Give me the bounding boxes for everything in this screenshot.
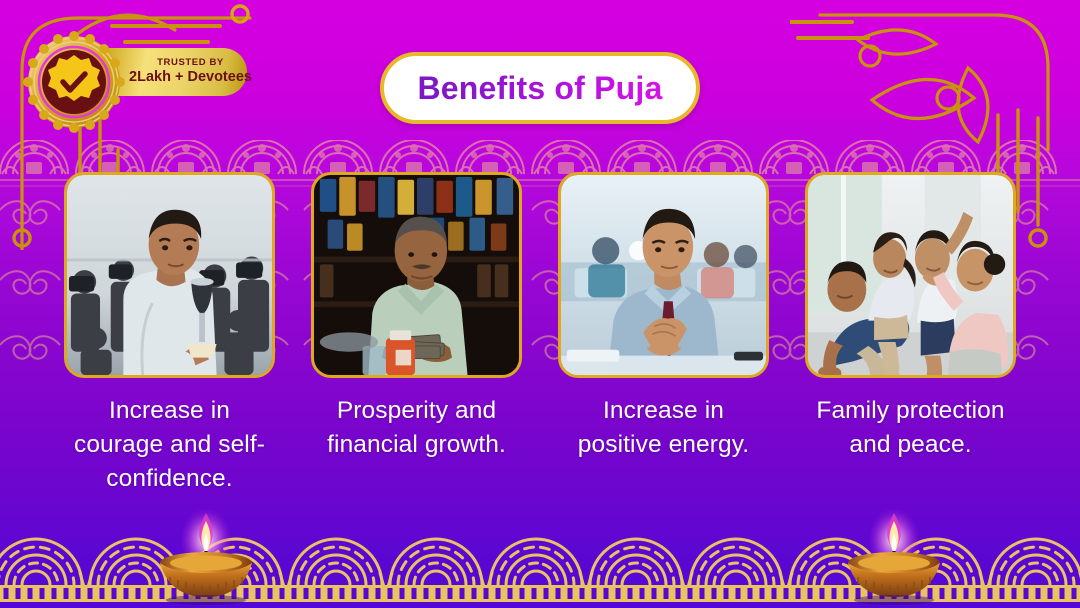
benefit-card-3[interactable]: Increase in positive energy. [558, 172, 769, 495]
benefit-caption-1: Increase in courage and self-confidence. [64, 394, 275, 495]
man-with-trophy-and-photographers-photo [64, 172, 275, 378]
benefit-card-1[interactable]: Increase in courage and self-confidence. [64, 172, 275, 495]
page-title-banner: Benefits of Puja [380, 52, 700, 124]
verified-check-seal-icon [22, 30, 126, 134]
family-playing-at-home-photo [805, 172, 1016, 378]
benefit-card-4[interactable]: Family protection and peace. [805, 172, 1016, 495]
trusted-badge-line2: 2Lakh + Devotees [129, 69, 252, 86]
benefit-caption-2: Prosperity and financial growth. [311, 394, 522, 462]
shopkeeper-counting-money-photo [311, 172, 522, 378]
trusted-badge-line1: TRUSTED BY [157, 58, 224, 68]
puja-benefits-poster: TRUSTED BY 2Lakh + Devotees [0, 0, 1080, 608]
benefit-caption-3: Increase in positive energy. [558, 394, 769, 462]
page-title: Benefits of Puja [417, 70, 662, 107]
businessman-at-office-desk-photo [558, 172, 769, 378]
diya-right [838, 507, 950, 608]
bottom-rangoli-border [0, 533, 1080, 608]
benefit-card-2[interactable]: Prosperity and financial growth. [311, 172, 522, 495]
diya-left [150, 507, 262, 608]
benefits-card-row: Increase in courage and self-confidence. [0, 172, 1080, 495]
trusted-badge: TRUSTED BY 2Lakh + Devotees [22, 30, 247, 115]
benefit-caption-4: Family protection and peace. [805, 394, 1016, 462]
